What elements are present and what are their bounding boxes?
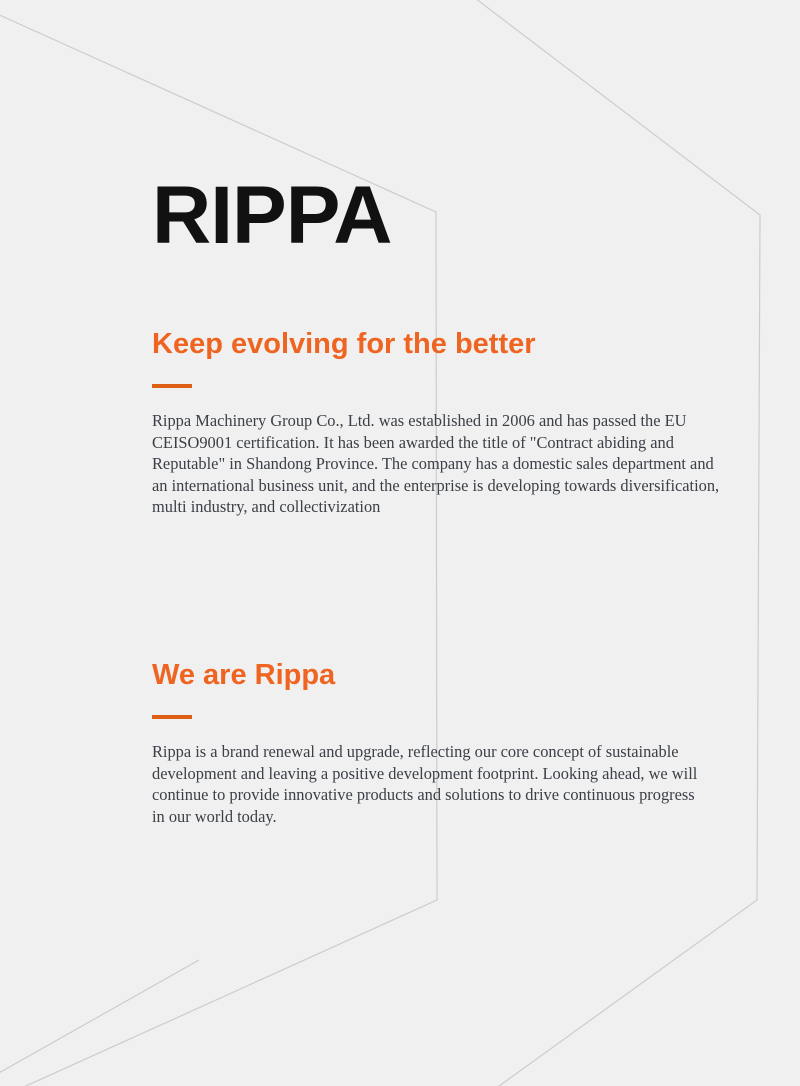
section-heading-we-are-rippa: We are Rippa [152, 657, 730, 693]
brand-about-page: RIPPA Keep evolving for the better Rippa… [0, 0, 800, 1086]
section-keep-evolving: Keep evolving for the better Rippa Machi… [152, 326, 730, 518]
section-heading-keep-evolving: Keep evolving for the better [152, 326, 730, 362]
content-column: RIPPA Keep evolving for the better Rippa… [152, 0, 742, 1086]
section-body-we-are-rippa: Rippa is a brand renewal and upgrade, re… [152, 741, 708, 827]
section-rule-keep-evolving [152, 384, 192, 388]
section-rule-we-are-rippa [152, 715, 192, 719]
section-body-keep-evolving: Rippa Machinery Group Co., Ltd. was esta… [152, 410, 730, 518]
section-we-are-rippa: We are Rippa Rippa is a brand renewal an… [152, 657, 730, 827]
brand-logo: RIPPA [152, 170, 392, 262]
